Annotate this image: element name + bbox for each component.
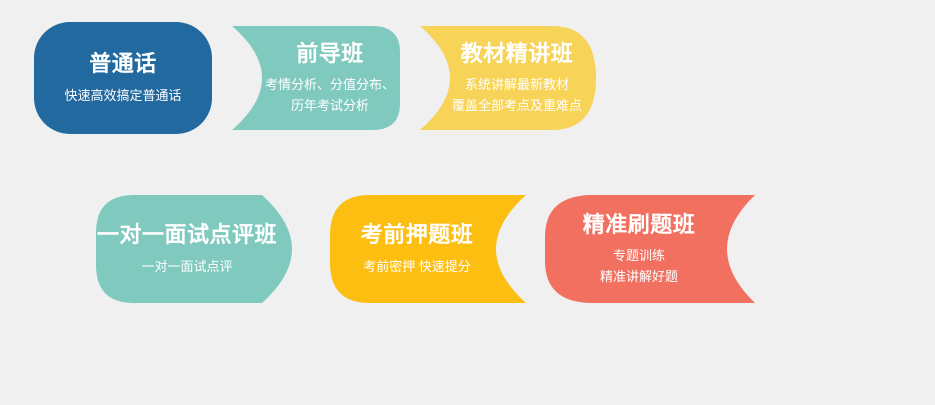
card-shape-round-left-notch-right	[545, 195, 755, 303]
card-shape-chevron-round-right	[420, 26, 596, 130]
flow-card-jiaocaijingjiangban[interactable]: 教材精讲班 系统讲解最新教材 覆盖全部考点及重难点	[420, 26, 596, 130]
card-shape-chevron	[232, 26, 402, 130]
flow-card-kaoqianyatiban[interactable]: 考前押题班 考前密押 快速提分	[330, 195, 526, 303]
flow-card-qiandaoban[interactable]: 前导班 考情分析、分值分布、 历年考试分析	[232, 26, 402, 130]
card-shape-round-left-bulge-right	[96, 195, 292, 303]
flow-card-jingzhunshuatiban[interactable]: 精准刷题班 专题训练 精准讲解好题	[545, 195, 755, 303]
card-shape-round-left-notch-right	[330, 195, 526, 303]
flow-card-yiduiyimianshi[interactable]: 一对一面试点评班 一对一面试点评	[96, 195, 292, 303]
card-shape-rounded-rect	[34, 22, 212, 134]
flow-card-putonghua[interactable]: 普通话 快速高效搞定普通话	[34, 22, 212, 134]
flow-diagram-canvas: 普通话 快速高效搞定普通话 前导班 考情分析、分值分布、 历年考试分析 教材精讲…	[0, 0, 935, 405]
